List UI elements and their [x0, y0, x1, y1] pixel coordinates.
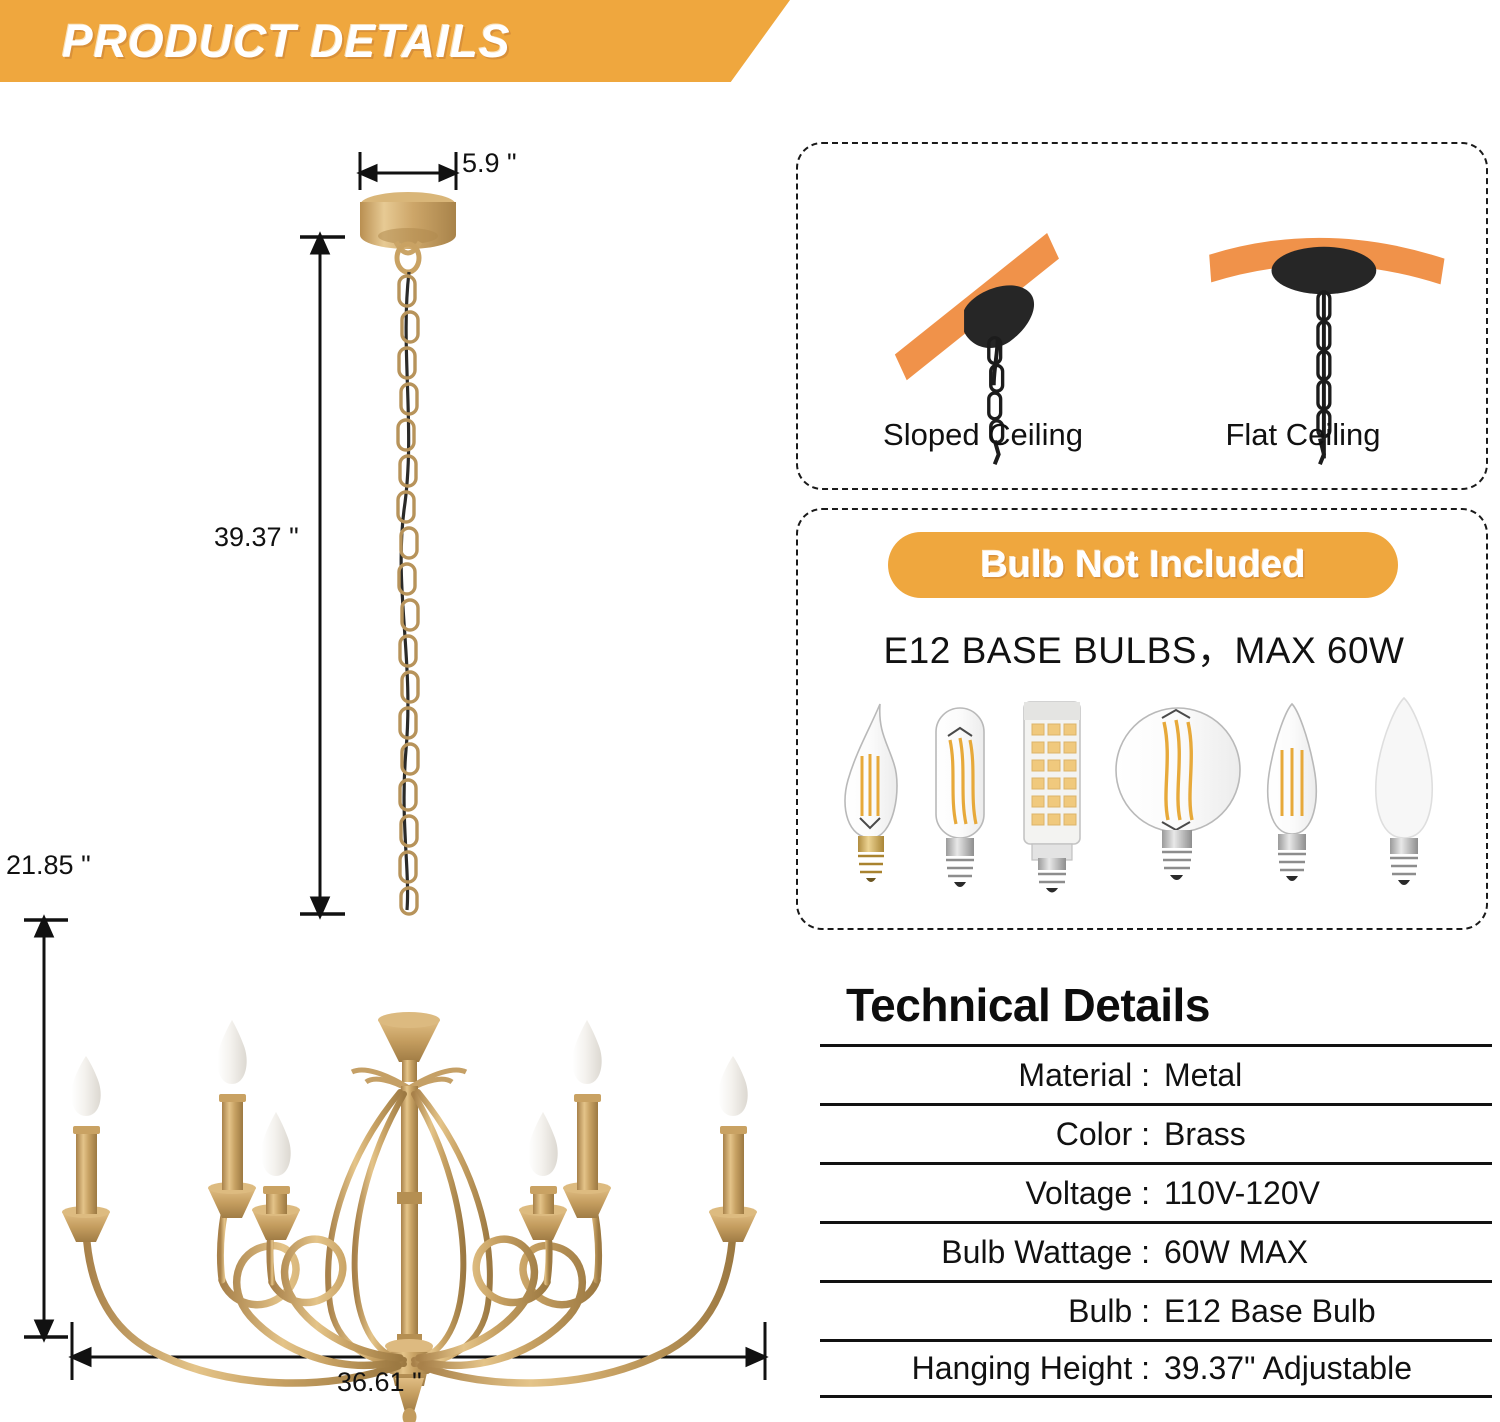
- page-title: PRODUCT DETAILS: [62, 14, 511, 68]
- technical-details-title: Technical Details: [846, 978, 1210, 1032]
- sloped-ceiling-label: Sloped Ceiling: [833, 417, 1133, 453]
- row-value: Metal: [1156, 1057, 1492, 1094]
- candle-arm: [519, 1112, 567, 1240]
- row-value: 110V-120V: [1156, 1175, 1492, 1212]
- chandelier-fixture: [62, 1012, 757, 1422]
- dimension-canopy-width: 5.9 ": [462, 148, 517, 179]
- bulb-not-included-badge: Bulb Not Included: [888, 532, 1398, 598]
- candle-arm: [709, 1056, 757, 1242]
- row-label: Material :: [820, 1057, 1156, 1094]
- row-value: 60W MAX: [1156, 1234, 1492, 1271]
- candle-arm: [252, 1112, 300, 1240]
- bulb-type-illustrations: [826, 688, 1466, 908]
- tubular-filament-bulb: [936, 708, 984, 887]
- dimension-fixture-height: 21.85 ": [6, 850, 91, 881]
- ceiling-compatibility-box: Sloped Ceiling Flat Ceiling: [796, 142, 1488, 490]
- row-label: Bulb :: [820, 1293, 1156, 1330]
- candle-arm: [62, 1056, 110, 1242]
- flat-ceiling-label: Flat Ceiling: [1153, 417, 1453, 453]
- page-header-banner: PRODUCT DETAILS: [0, 0, 790, 82]
- candle-arm: [563, 1020, 611, 1218]
- globe-filament-bulb: [1116, 708, 1240, 880]
- dimension-fixture-width: 36.61 ": [337, 1367, 422, 1398]
- hanging-chain: [398, 272, 418, 914]
- row-value: 39.37" Adjustable: [1156, 1350, 1492, 1387]
- row-label: Bulb Wattage :: [820, 1234, 1156, 1271]
- flame-tip-filament-bulb: [845, 704, 897, 882]
- candle-arm: [208, 1020, 256, 1218]
- table-row: Bulb Wattage : 60W MAX: [820, 1221, 1492, 1280]
- table-row: Color : Brass: [820, 1103, 1492, 1162]
- frosted-candle-bulb: [1376, 698, 1432, 885]
- row-label: Hanging Height :: [820, 1350, 1156, 1387]
- dimension-chain-drop: 39.37 ": [214, 522, 299, 553]
- row-label: Voltage :: [820, 1175, 1156, 1212]
- table-row: Material : Metal: [820, 1044, 1492, 1103]
- chandelier-illustration: [0, 90, 790, 1422]
- row-value: Brass: [1156, 1116, 1492, 1153]
- row-label: Color :: [820, 1116, 1156, 1153]
- table-row: Hanging Height : 39.37" Adjustable: [820, 1339, 1492, 1398]
- bulb-spec-heading: E12 BASE BULBS，MAX 60W: [798, 620, 1490, 674]
- product-dimension-diagram: 5.9 " 39.37 " 21.85 " 36.61 ": [0, 90, 790, 1422]
- bulb-info-box: Bulb Not Included E12 BASE BULBS，MAX 60W: [796, 508, 1488, 930]
- corn-led-bulb: [1024, 702, 1080, 893]
- right-info-column: Sloped Ceiling Flat Ceiling Bulb Not Inc…: [790, 0, 1500, 1422]
- technical-details-table: Material : Metal Color : Brass Voltage :…: [820, 1044, 1492, 1398]
- candle-filament-bulb: [1268, 704, 1316, 881]
- row-value: E12 Base Bulb: [1156, 1293, 1492, 1330]
- table-row: Bulb : E12 Base Bulb: [820, 1280, 1492, 1339]
- table-row: Voltage : 110V-120V: [820, 1162, 1492, 1221]
- ceiling-canopy: [360, 192, 456, 272]
